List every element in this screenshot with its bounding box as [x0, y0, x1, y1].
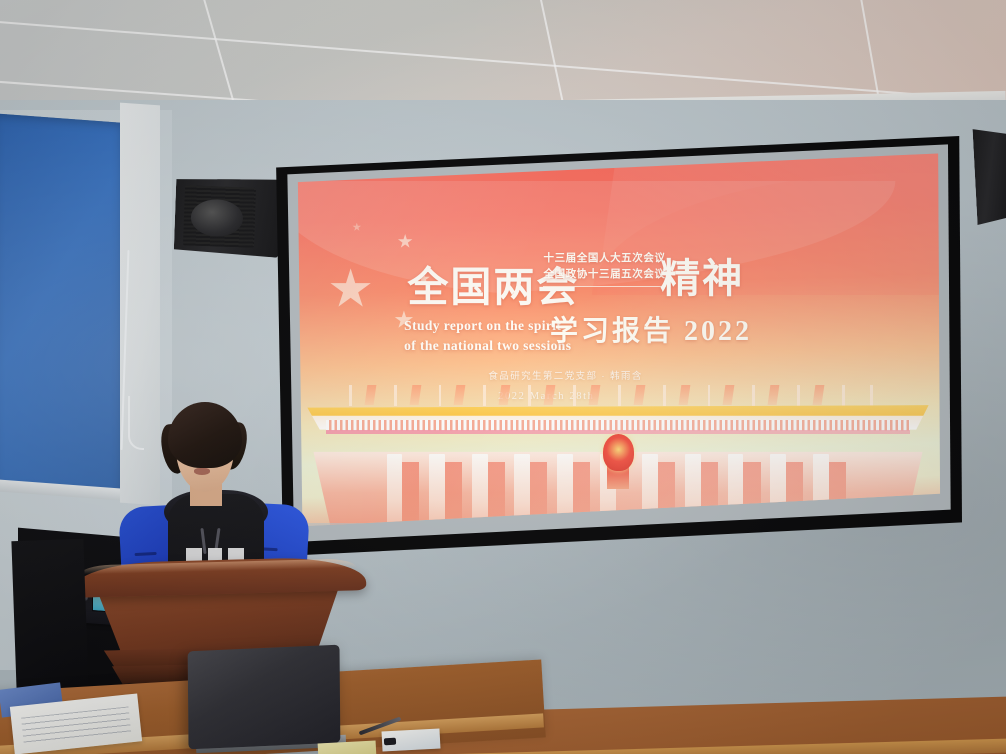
- yellow-packet[interactable]: [318, 740, 377, 754]
- slide-title-accent: 精神: [660, 246, 744, 304]
- speaker-icon: [174, 176, 291, 258]
- paper-text-lines: [21, 706, 131, 743]
- divider: [543, 286, 665, 288]
- report-label: 学习报告: [550, 316, 674, 347]
- slide-meeting-lines: 十三届全国人大五次会议 全国政协十三届五次会议: [543, 251, 665, 287]
- slide-subtitle-en: Study report on the spirit of the nation…: [404, 316, 571, 355]
- usb-drive[interactable]: [384, 738, 396, 746]
- meeting-line-1: 十三届全国人大五次会议: [543, 253, 665, 264]
- room-photo: 全国两会 十三届全国人大五次会议 全国政协十三届五次会议 精神 Study re…: [0, 0, 1006, 754]
- subtitle-line-1: Study report on the spirit: [404, 318, 561, 333]
- national-emblem-icon: [603, 434, 635, 471]
- chair-back: [11, 539, 88, 691]
- slide-year: 2022: [684, 316, 752, 347]
- laptop[interactable]: [188, 645, 341, 750]
- projected-slide[interactable]: 全国两会 十三届全国人大五次会议 全国政协十三届五次会议 精神 Study re…: [294, 150, 942, 532]
- hair: [168, 402, 242, 468]
- star-icon: [330, 268, 372, 310]
- slide-report-line: 学习报告 2022: [550, 309, 752, 349]
- flag-row: [338, 379, 898, 410]
- mouth: [194, 468, 210, 475]
- speaker-icon: [973, 127, 1006, 225]
- subtitle-line-2: of the national two sessions: [404, 338, 571, 353]
- meeting-line-2: 全国政协十三届五次会议: [543, 269, 665, 280]
- jacket-pocket: [135, 552, 157, 556]
